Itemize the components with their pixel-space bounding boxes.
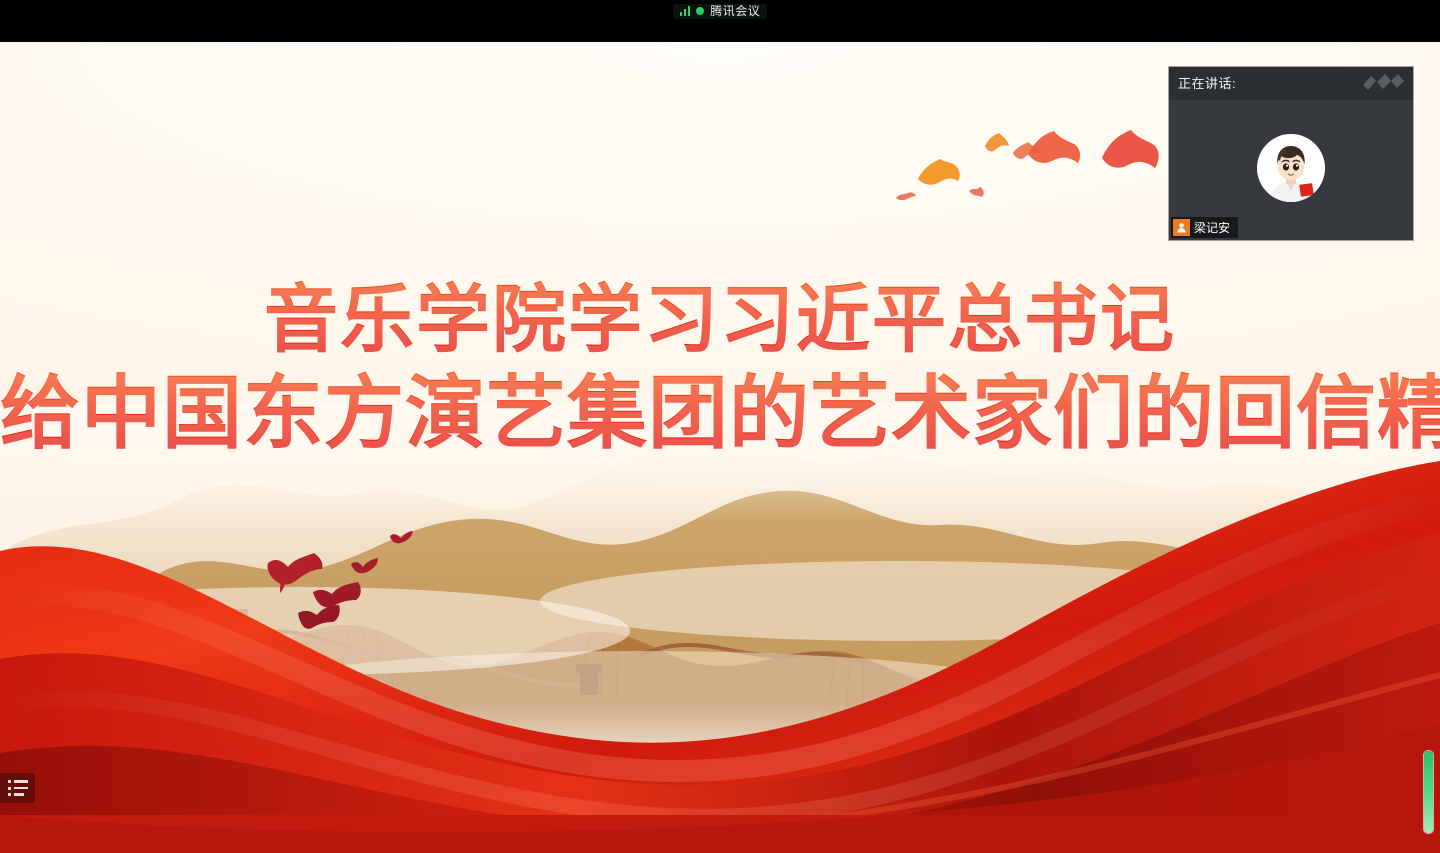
tencent-meeting-logo-icon <box>1361 73 1405 93</box>
participant-avatar-icon <box>1173 219 1190 236</box>
list-menu-icon <box>8 780 28 796</box>
now-speaking-label: 正在讲话: <box>1178 77 1236 90</box>
list-menu-button[interactable] <box>0 773 35 803</box>
flying-bird-icon <box>1026 130 1082 170</box>
flying-dove-icon <box>388 528 414 548</box>
meeting-status-pill[interactable]: 腾讯会议 <box>673 4 768 19</box>
flying-bird-icon <box>984 132 1010 154</box>
status-bar: 腾讯会议 <box>0 0 1440 22</box>
signal-bars-icon <box>680 5 691 16</box>
flying-bird-icon <box>1100 128 1160 176</box>
green-status-dot-icon <box>696 7 704 15</box>
app-name-label: 腾讯会议 <box>710 5 760 17</box>
participant-name-label: 梁记安 <box>1194 222 1230 234</box>
avatar <box>1257 134 1325 202</box>
flying-bird-icon <box>968 185 986 199</box>
audio-level-meter[interactable] <box>1423 750 1434 834</box>
speaker-panel-header: 正在讲话: <box>1169 67 1413 100</box>
audio-level-meter-fill <box>1424 751 1433 833</box>
participant-name-chip: 梁记安 <box>1171 217 1238 238</box>
red-ribbon-decoration <box>0 423 1440 853</box>
screen-root: 腾讯会议 <box>0 0 1440 853</box>
speaker-video-area[interactable]: 梁记安 <box>1169 100 1413 240</box>
flying-bird-icon <box>916 157 962 189</box>
top-letterbox <box>0 22 1440 42</box>
flying-bird-icon <box>895 190 917 202</box>
flying-dove-icon <box>296 597 342 633</box>
speaker-video-panel[interactable]: 正在讲话: <box>1169 67 1413 240</box>
